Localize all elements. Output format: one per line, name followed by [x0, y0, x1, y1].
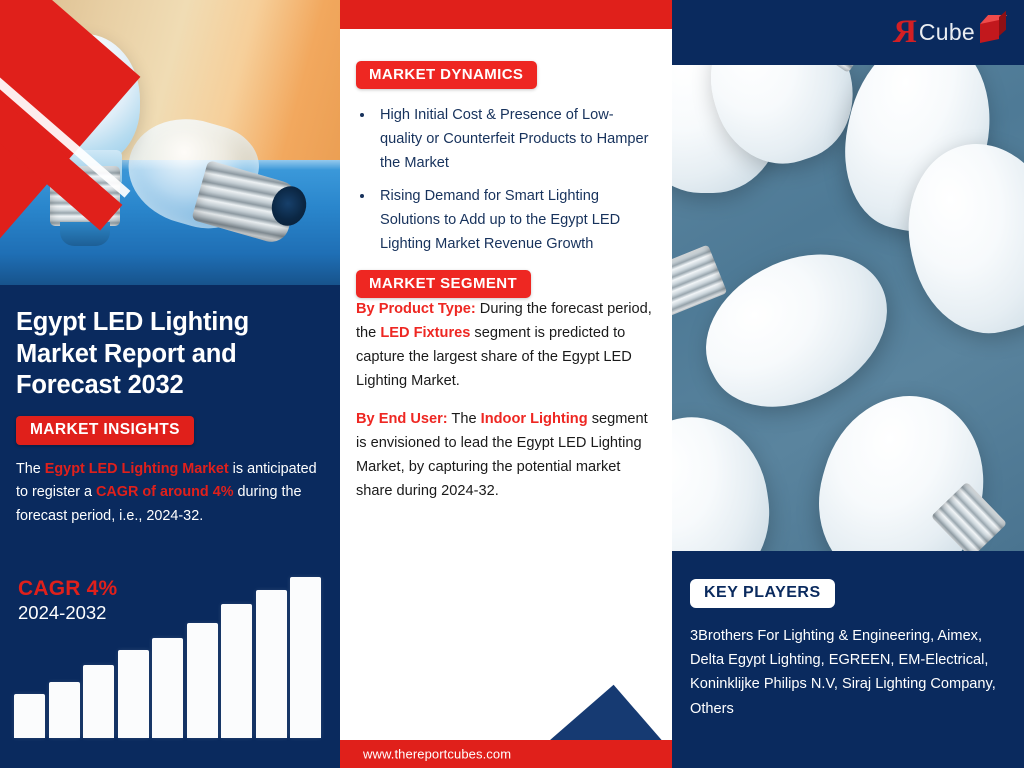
insights-highlight-cagr: CAGR of around 4%: [96, 484, 234, 500]
market-dynamics-item: Rising Demand for Smart Lighting Solutio…: [375, 184, 654, 256]
market-segment-paragraph: By End User: The Indoor Lighting segment…: [356, 408, 654, 504]
chart-bars: [0, 565, 340, 738]
chart-bar: [152, 638, 183, 738]
market-segment-paragraphs: By Product Type: During the forecast per…: [356, 298, 654, 503]
led-bulbs-photo-left: [0, 0, 340, 285]
segment-highlight: LED Fixtures: [380, 325, 470, 341]
cube-icon: [978, 14, 1006, 42]
segment-highlight: Indoor Lighting: [481, 411, 588, 427]
right-panel: R Cube KEY PLAYERS: [672, 0, 1024, 768]
right-top-navy-bar: R Cube: [672, 0, 1024, 65]
key-players-badge: KEY PLAYERS: [690, 579, 835, 608]
chart-bar: [221, 604, 252, 738]
chart-bar: [290, 577, 321, 738]
key-players-section: KEY PLAYERS 3Brothers For Lighting & Eng…: [672, 551, 1024, 768]
center-panel: MARKET DYNAMICS High Initial Cost & Pres…: [340, 0, 672, 768]
segment-lead-label: By End User:: [356, 411, 448, 427]
center-content: MARKET DYNAMICS High Initial Cost & Pres…: [340, 29, 672, 518]
market-dynamics-list: High Initial Cost & Presence of Low-qual…: [356, 103, 654, 256]
chart-bar: [83, 665, 114, 738]
cube-side-face: [999, 11, 1006, 36]
market-insights-badge: MARKET INSIGHTS: [16, 416, 194, 445]
cube-front-face: [980, 20, 999, 43]
market-insights-text: The Egypt LED Lighting Market is anticip…: [16, 458, 324, 528]
photo-bulb-7: [672, 408, 779, 551]
market-dynamics-item: High Initial Cost & Presence of Low-qual…: [375, 103, 654, 175]
left-panel: Egypt LED Lighting Market Report and For…: [0, 0, 340, 768]
chart-bar: [187, 623, 218, 738]
chart-bar: [256, 590, 287, 738]
reportcubes-logo[interactable]: R Cube: [893, 12, 1006, 52]
footer-bar: www.thereportcubes.com: [340, 740, 672, 768]
insights-highlight-market: Egypt LED Lighting Market: [45, 461, 229, 477]
market-dynamics-badge: MARKET DYNAMICS: [356, 61, 537, 89]
growth-bar-chart: CAGR 4% 2024-2032: [0, 565, 340, 768]
center-top-red-bar: [340, 0, 672, 29]
market-segment-block: MARKET SEGMENT By Product Type: During t…: [356, 270, 654, 503]
logo-reversed-r: R: [893, 16, 917, 49]
page-title: Egypt LED Lighting Market Report and For…: [16, 307, 324, 402]
segment-text-part1: The: [448, 411, 481, 427]
market-segment-paragraph: By Product Type: During the forecast per…: [356, 298, 654, 394]
segment-lead-label: By Product Type:: [356, 301, 476, 317]
led-bulbs-photo-right: [672, 65, 1024, 551]
chart-bar: [49, 682, 80, 739]
chart-bar: [14, 694, 45, 738]
insights-text-part1: The: [16, 461, 45, 477]
footer-website-url[interactable]: www.thereportcubes.com: [363, 747, 511, 762]
chart-bar: [118, 650, 149, 738]
infographic-page: Egypt LED Lighting Market Report and For…: [0, 0, 1024, 768]
market-segment-badge: MARKET SEGMENT: [356, 270, 531, 298]
key-players-list: 3Brothers For Lighting & Engineering, Ai…: [690, 624, 1002, 721]
logo-wordmark: Cube: [919, 19, 975, 46]
